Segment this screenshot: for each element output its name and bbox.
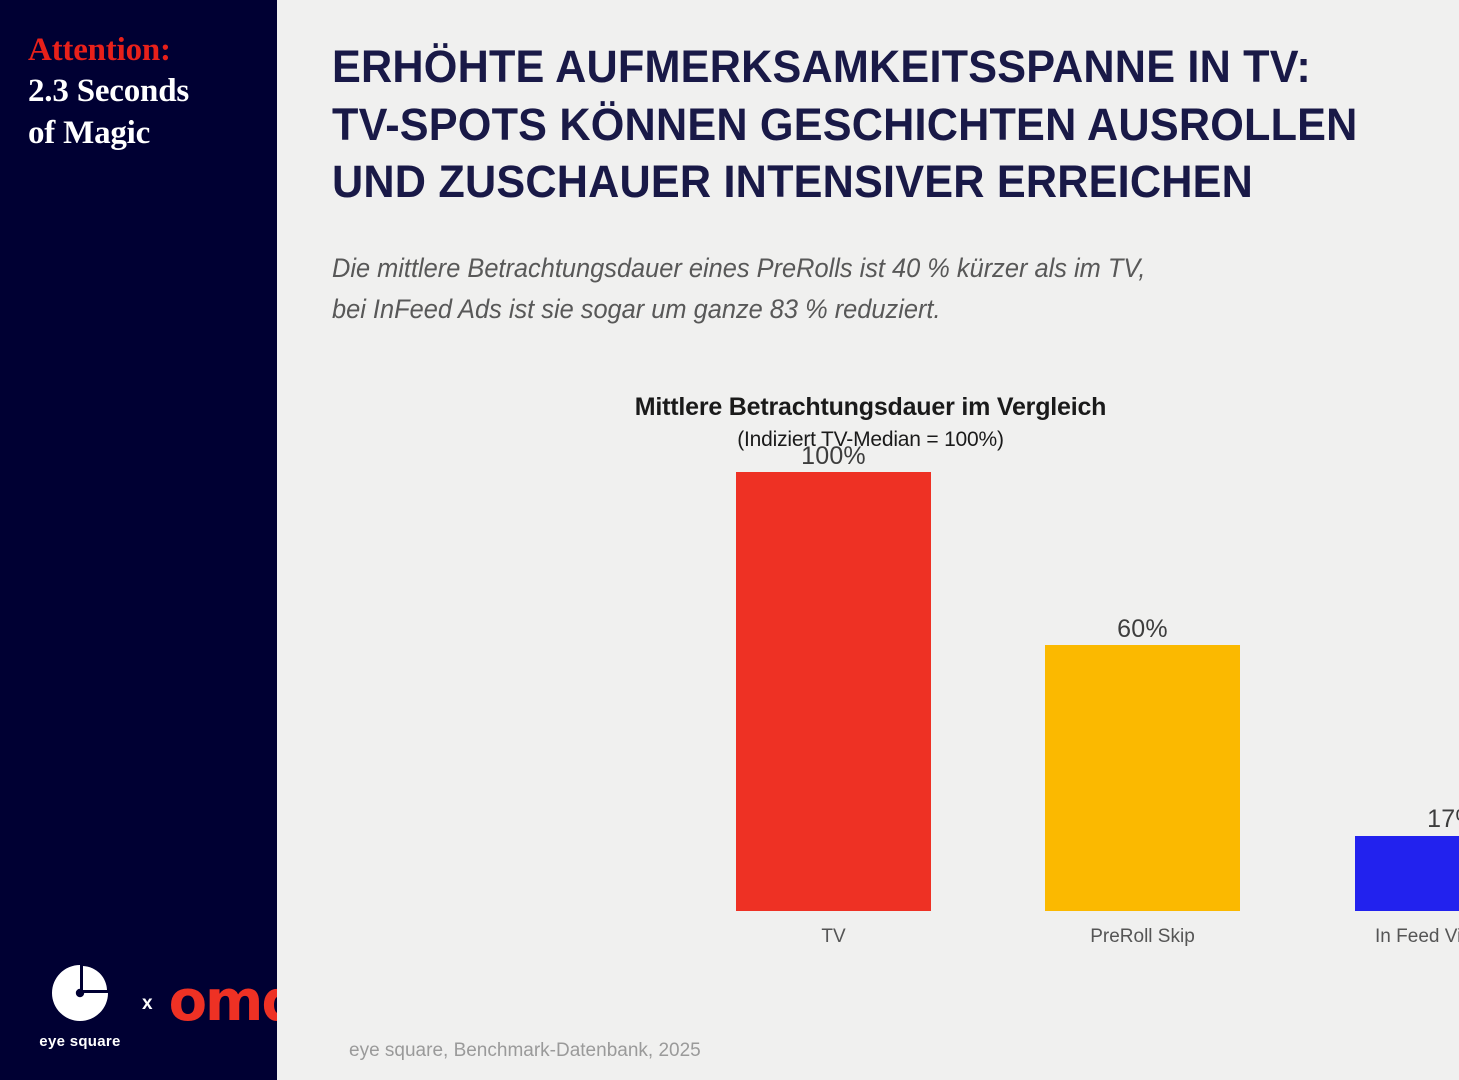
headline-line-1: ERHÖHTE AUFMERKSAMKEITSSPANNE IN TV: [332,38,1378,96]
sidebar-title: Attention: 2.3 Seconds of Magic [28,30,258,154]
sidebar-title-line-3: of Magic [28,113,258,154]
main-content: ERHÖHTE AUFMERKSAMKEITSSPANNE IN TV: TV-… [277,0,1459,1080]
subline-line-2: bei InFeed Ads ist sie sogar um ganze 83… [332,289,1375,330]
slide-root: Attention: 2.3 Seconds of Magic eye squa… [0,0,1459,1080]
bar-chart: Mittlere Betrachtungsdauer im Vergleich … [277,380,1459,1020]
subline-line-1: Die mittlere Betrachtungsdauer eines Pre… [332,248,1375,289]
logo-row: eye square x omd [32,963,300,1050]
page-title: ERHÖHTE AUFMERKSAMKEITSSPANNE IN TV: TV-… [332,38,1378,211]
eye-square-wordmark: eye square [39,1033,120,1050]
chart-bar-group-tv: 100% TV [736,475,931,956]
logo-separator: x [142,993,153,1015]
chart-title: Mittlere Betrachtungsdauer im Vergleich [282,393,1459,422]
eye-square-mark-icon [50,963,110,1028]
bar-category-label-tv: TV [696,926,971,948]
bar-rect-infeed[interactable] [1355,836,1459,911]
bar-value-label-preroll: 60% [1045,615,1240,644]
bar-value-label-tv: 100% [736,442,931,471]
eye-square-logo: eye square [32,963,128,1050]
chart-plot-area: 100% TV 60% PreRoll Skip 17% In Feed Vid… [277,475,1459,956]
sidebar: Attention: 2.3 Seconds of Magic eye squa… [0,0,277,1080]
chart-bar-group-preroll: 60% PreRoll Skip [1045,475,1240,956]
source-note: eye square, Benchmark-Datenbank, 2025 [349,1040,701,1062]
bar-value-label-infeed: 17% [1355,805,1459,834]
bar-rect-tv[interactable] [736,472,931,911]
bar-category-label-preroll: PreRoll Skip [1005,926,1280,948]
bar-rect-preroll[interactable] [1045,645,1240,911]
sidebar-title-line-2: 2.3 Seconds [28,71,258,112]
bar-category-label-infeed: In Feed Video Ads [1315,926,1459,948]
page-subtitle: Die mittlere Betrachtungsdauer eines Pre… [332,248,1375,329]
chart-bar-group-infeed: 17% In Feed Video Ads [1355,475,1459,956]
headline-line-3: UND ZUSCHAUER INTENSIVER ERREICHEN [332,153,1378,211]
headline-line-2: TV-SPOTS KÖNNEN GESCHICHTEN AUSROLLEN [332,96,1378,154]
sidebar-title-line-1: Attention: [28,30,258,71]
